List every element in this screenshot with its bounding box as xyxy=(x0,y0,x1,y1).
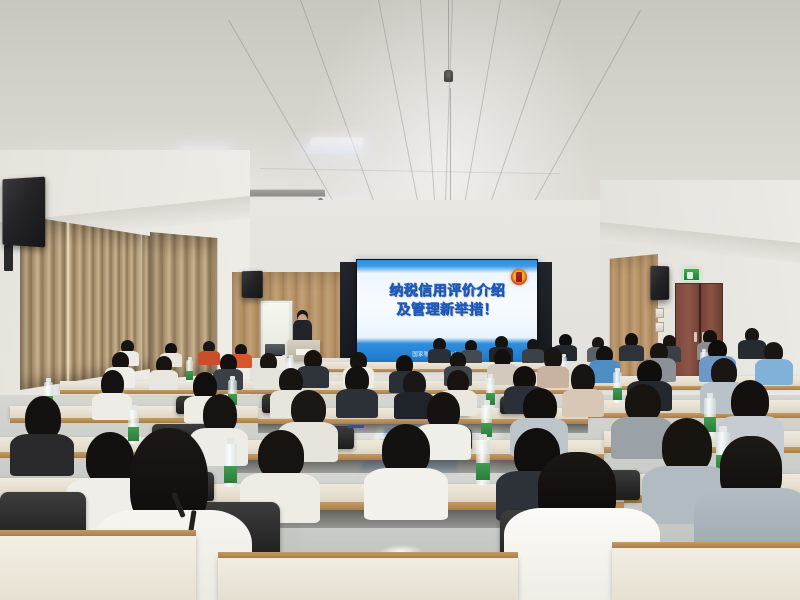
bottle-label xyxy=(476,463,490,480)
ceiling-wire xyxy=(450,88,451,208)
bottle-cap xyxy=(46,378,51,382)
bottle-cap xyxy=(488,374,493,378)
light-panel-5 xyxy=(306,137,364,153)
torso xyxy=(738,340,766,359)
wall-speaker-left xyxy=(2,177,45,248)
torso xyxy=(149,370,178,390)
desk-row-6-center xyxy=(218,556,518,600)
torso xyxy=(428,349,451,363)
bottle-label xyxy=(613,388,622,400)
torso xyxy=(198,351,220,365)
slide-title: 纳税信用评价介绍 及管理新举措！ xyxy=(357,282,537,320)
desk-edge xyxy=(612,542,800,548)
desk-edge xyxy=(218,552,518,558)
torso xyxy=(522,349,544,363)
bottle-cap xyxy=(230,376,235,380)
bottle-cap xyxy=(702,349,706,352)
bottle-cap xyxy=(562,354,566,357)
torso xyxy=(562,389,604,417)
bottle-label xyxy=(128,427,139,441)
water-bottle xyxy=(186,360,193,382)
curtain-light-gap xyxy=(66,222,70,382)
wall-speaker-right xyxy=(650,266,669,301)
ceiling-air-vent xyxy=(238,190,325,197)
presentation-slide: 纳税信用评价介绍 及管理新举措！ 国家税务总局台山市税务局 xyxy=(357,260,537,362)
desk-edge xyxy=(0,530,196,536)
torso xyxy=(619,345,644,361)
ceiling-wire xyxy=(448,0,449,72)
torso xyxy=(92,393,132,420)
bottle-cap xyxy=(707,393,713,398)
bottle-cap xyxy=(719,426,727,432)
wall-speaker-front-left xyxy=(242,271,263,299)
curtain-light-gap xyxy=(140,232,143,374)
bottle-cap xyxy=(615,368,620,372)
torso xyxy=(755,359,793,385)
light-switch-plate[interactable] xyxy=(655,308,664,318)
desk-row-6-left xyxy=(0,534,196,600)
water-bottle xyxy=(224,444,237,487)
bottle-cap xyxy=(479,434,487,440)
emergency-exit-sign xyxy=(683,268,700,281)
lecture-hall-photo: 纳税信用评价介绍 及管理新举措！ 国家税务总局台山市税务局 纳税信用评价 及管理… xyxy=(0,0,800,600)
bottle-cap xyxy=(289,355,293,358)
water-bottle xyxy=(476,440,490,485)
bottle-cap xyxy=(188,357,192,360)
bottle-cap xyxy=(131,405,137,410)
desk-edge xyxy=(60,390,280,394)
water-bottle xyxy=(128,410,139,444)
bottle-label xyxy=(224,466,237,483)
speaker-mount-bracket xyxy=(4,245,13,271)
bottle-cap xyxy=(227,438,234,444)
torso xyxy=(364,468,448,520)
smoke-detector-icon xyxy=(444,70,453,82)
torso xyxy=(336,389,378,418)
torso xyxy=(10,434,74,476)
bottle-cap xyxy=(484,400,490,405)
door-handle[interactable] xyxy=(694,332,697,342)
water-bottle xyxy=(613,372,622,403)
torso xyxy=(537,366,569,388)
desk-pen xyxy=(347,425,364,428)
light-switch-plate[interactable] xyxy=(655,322,664,332)
desk-row-6-right xyxy=(612,546,800,600)
bottle-label xyxy=(186,371,193,380)
